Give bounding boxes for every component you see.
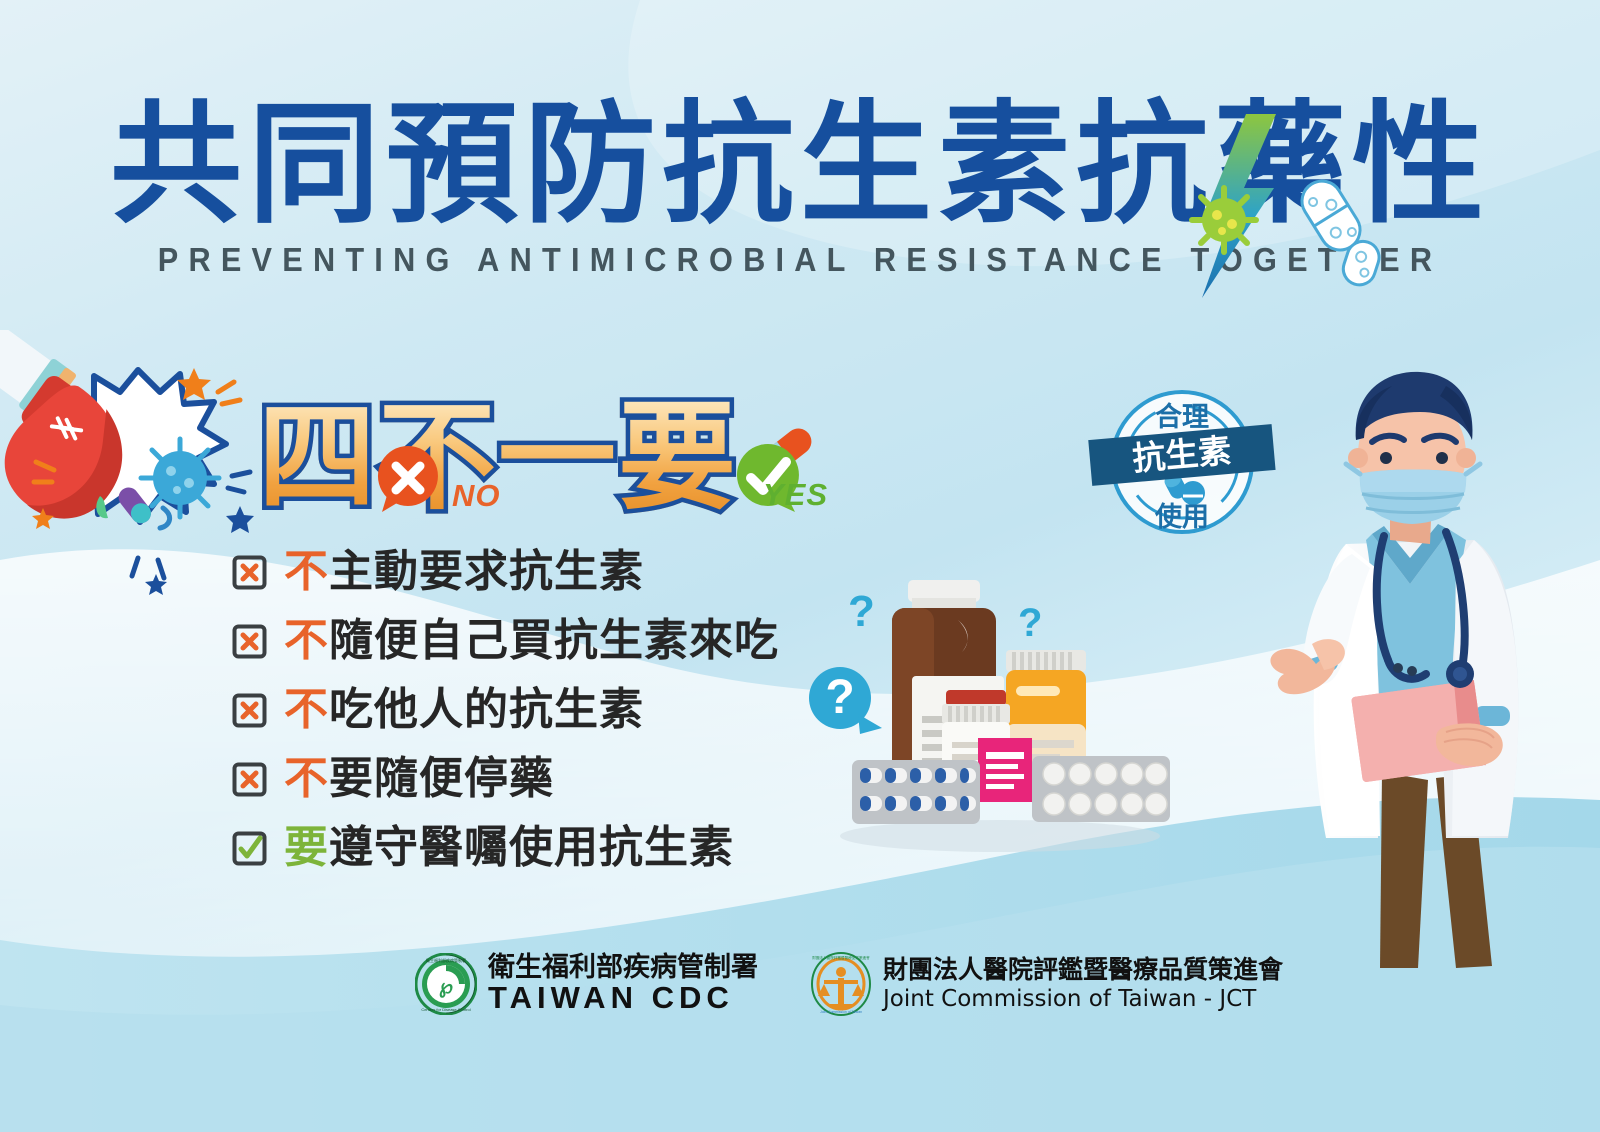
doctor-illustration bbox=[1260, 368, 1600, 988]
rule-lead-char: 要 bbox=[284, 822, 329, 873]
rule-text: 遵守醫囑使用抗生素 bbox=[329, 822, 734, 873]
footer-logos: ℘ 衛生福利部疾病管制署 Centers for Disease Control… bbox=[415, 952, 1283, 1016]
checkbox-x-icon bbox=[232, 693, 267, 728]
stamp-bottom-text: 使用 bbox=[1154, 502, 1209, 533]
rule-text: 主動要求抗生素 bbox=[329, 546, 644, 597]
poster-canvas: 共同預防抗生素抗藥性 PREVENTING ANTIMICROBIAL RESI… bbox=[0, 0, 1600, 1132]
list-item: 要遵守醫囑使用抗生素 bbox=[232, 822, 779, 874]
svg-text:Joint Commission of Taiwan: Joint Commission of Taiwan bbox=[820, 1010, 862, 1014]
header: 共同預防抗生素抗藥性 PREVENTING ANTIMICROBIAL RESI… bbox=[0, 96, 1600, 279]
checkbox-x-icon bbox=[232, 555, 267, 590]
list-item: 不主動要求抗生素 bbox=[232, 546, 779, 598]
jct-name-en: Joint Commission of Taiwan - JCT bbox=[883, 987, 1283, 1011]
rules-list: 不主動要求抗生素 不隨便自己買抗生素來吃 不吃他人的抗生素 bbox=[232, 546, 779, 891]
taiwan-cdc-logo-icon: ℘ 衛生福利部疾病管制署 Centers for Disease Control bbox=[415, 953, 477, 1015]
svg-text:?: ? bbox=[848, 587, 875, 636]
cdc-name-zh: 衛生福利部疾病管制署 bbox=[488, 954, 758, 982]
slogan-char-1: 四 bbox=[258, 398, 376, 516]
checkbox-check-icon bbox=[232, 831, 267, 866]
page-subtitle: PREVENTING ANTIMICROBIAL RESISTANCE TOGE… bbox=[56, 241, 1544, 279]
checkbox-x-icon bbox=[232, 762, 267, 797]
rule-text: 隨便自己買抗生素來吃 bbox=[329, 615, 779, 666]
rule-lead-char: 不 bbox=[284, 753, 329, 804]
rule-lead-char: 不 bbox=[284, 615, 329, 666]
no-bubble-icon bbox=[372, 442, 444, 514]
rule-lead-char: 不 bbox=[284, 546, 329, 597]
joint-commission-taiwan-logo-icon: 財團法人醫院評鑑暨醫療品質策進會 Joint Commission of Tai… bbox=[810, 952, 872, 1016]
medicine-bottles-illustration: ? ? ? bbox=[800, 548, 1200, 858]
rule-text: 要隨便停藥 bbox=[329, 753, 554, 804]
rule-lead-char: 不 bbox=[284, 684, 329, 735]
jct-name-zh: 財團法人醫院評鑑暨醫療品質策進會 bbox=[883, 957, 1283, 983]
antibiotic-stamp-badge: 合理 使用 抗生素 bbox=[1082, 378, 1282, 550]
slogan-char-4: 要 bbox=[618, 398, 736, 516]
checkbox-x-icon bbox=[232, 624, 267, 659]
no-label: NO bbox=[452, 478, 501, 514]
svg-text:?: ? bbox=[825, 671, 854, 724]
list-item: 不要隨便停藥 bbox=[232, 753, 779, 805]
list-item: 不隨便自己買抗生素來吃 bbox=[232, 615, 779, 667]
yes-label: YES bbox=[763, 477, 828, 513]
rule-text: 吃他人的抗生素 bbox=[329, 684, 644, 735]
list-item: 不吃他人的抗生素 bbox=[232, 684, 779, 736]
svg-text:財團法人醫院評鑑暨醫療品質策進會: 財團法人醫院評鑑暨醫療品質策進會 bbox=[812, 955, 870, 960]
cdc-logo-block: ℘ 衛生福利部疾病管制署 Centers for Disease Control… bbox=[415, 953, 758, 1015]
svg-text:衛生福利部疾病管制署: 衛生福利部疾病管制署 bbox=[426, 957, 466, 963]
cdc-name-en: TAIWAN CDC bbox=[488, 982, 758, 1015]
stamp-top-text: 合理 bbox=[1155, 401, 1209, 433]
svg-text:℘: ℘ bbox=[439, 976, 453, 998]
svg-text:Centers for Disease Control: Centers for Disease Control bbox=[421, 1007, 470, 1012]
slogan-char-3: 一 bbox=[498, 398, 616, 516]
svg-text:?: ? bbox=[1018, 601, 1042, 645]
jct-logo-block: 財團法人醫院評鑑暨醫療品質策進會 Joint Commission of Tai… bbox=[810, 952, 1283, 1016]
page-title: 共同預防抗生素抗藥性 bbox=[110, 96, 1490, 235]
